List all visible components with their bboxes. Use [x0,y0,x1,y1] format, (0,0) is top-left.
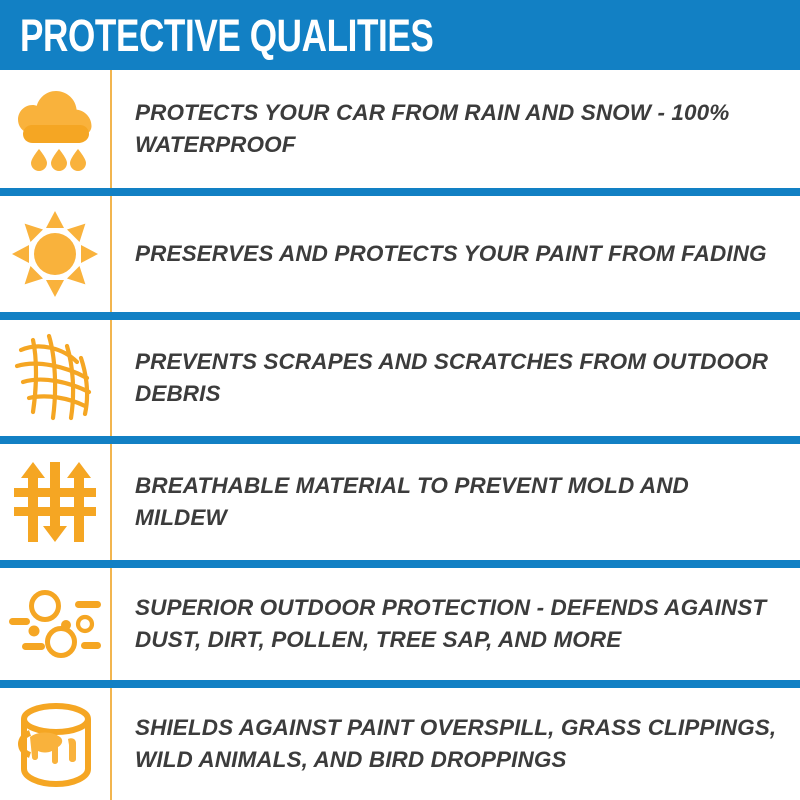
feature-row-scratches: PREVENTS SCRAPES AND SCRATCHES FROM OUTD… [0,320,800,436]
sun-icon [0,196,110,312]
feature-row-rain: PROTECTS YOUR CAR FROM RAIN AND SNOW - 1… [0,70,800,188]
row-separator [0,188,800,196]
paint-can-icon [0,688,110,800]
feature-text: PROTECTS YOUR CAR FROM RAIN AND SNOW - 1… [110,97,800,161]
page-title: PROTECTIVE QUALITIES [20,13,433,58]
row-separator [0,436,800,444]
feature-row-breathable: BREATHABLE MATERIAL TO PREVENT MOLD AND … [0,444,800,560]
feature-text: SUPERIOR OUTDOOR PROTECTION - DEFENDS AG… [110,592,800,656]
dust-particles-icon [0,568,110,680]
feature-row-sun: PRESERVES AND PROTECTS YOUR PAINT FROM F… [0,196,800,312]
protective-qualities-infographic: PROTECTIVE QUALITIES PROTECTS YOUR CAR F… [0,0,800,800]
feature-row-paint: SHIELDS AGAINST PAINT OVERSPILL, GRASS C… [0,688,800,800]
row-separator [0,312,800,320]
row-separator [0,560,800,568]
feature-text: SHIELDS AGAINST PAINT OVERSPILL, GRASS C… [110,712,800,776]
breathable-airflow-icon [0,444,110,560]
header-bar: PROTECTIVE QUALITIES [0,0,800,70]
rain-cloud-icon [0,70,110,188]
feature-text: BREATHABLE MATERIAL TO PREVENT MOLD AND … [110,470,800,534]
scratches-icon [0,320,110,436]
row-separator [0,680,800,688]
feature-list: PROTECTS YOUR CAR FROM RAIN AND SNOW - 1… [0,70,800,800]
feature-text: PRESERVES AND PROTECTS YOUR PAINT FROM F… [110,238,800,270]
feature-row-dust: SUPERIOR OUTDOOR PROTECTION - DEFENDS AG… [0,568,800,680]
feature-text: PREVENTS SCRAPES AND SCRATCHES FROM OUTD… [110,346,800,410]
